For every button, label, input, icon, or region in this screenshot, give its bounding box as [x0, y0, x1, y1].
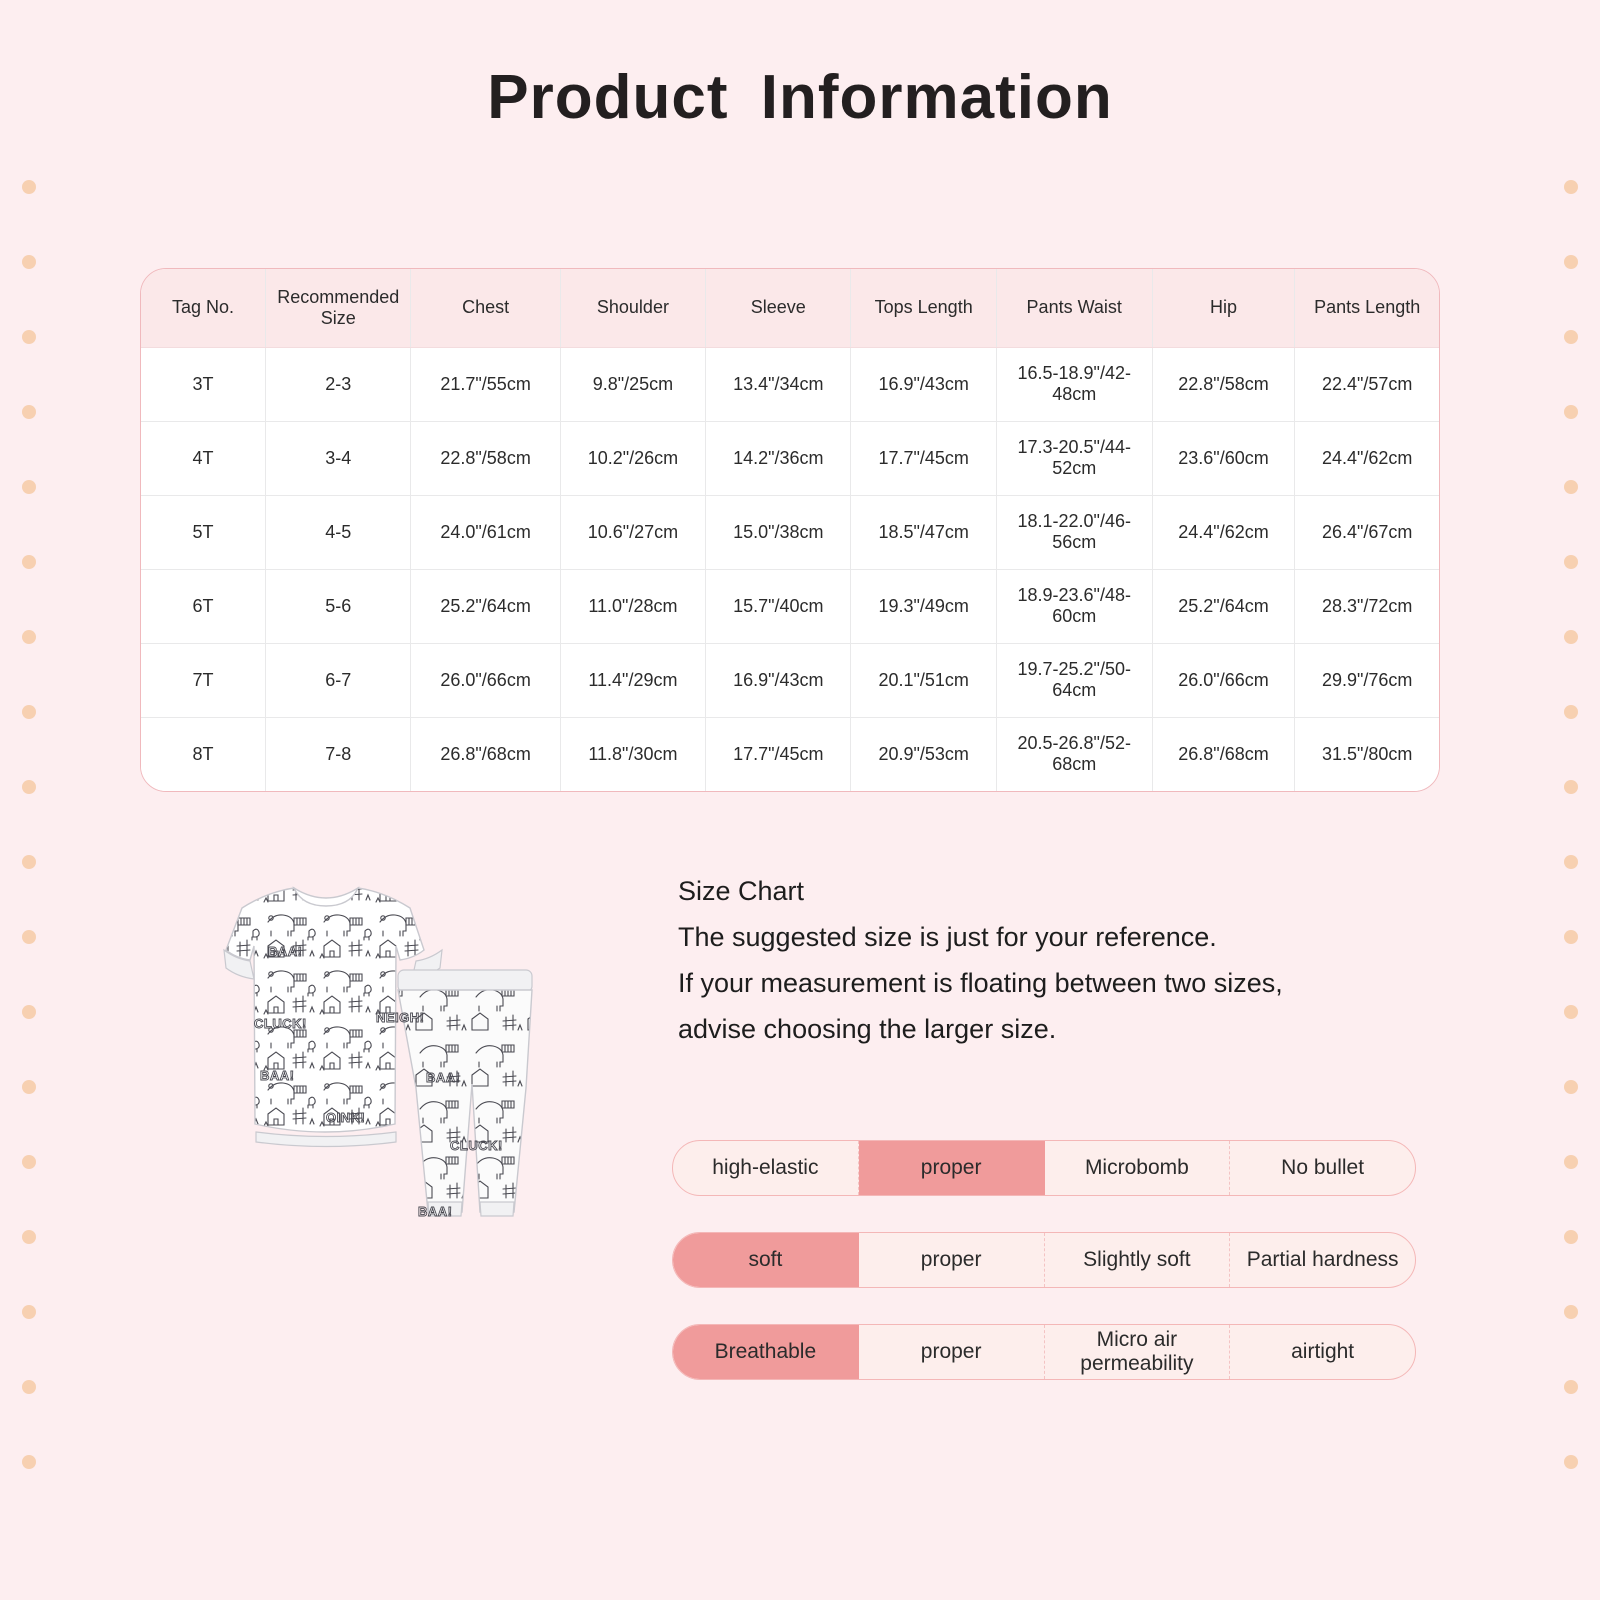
cell-chest: 24.0"/61cm [411, 495, 560, 569]
decorative-dot [22, 1305, 36, 1319]
print-word: BAA! [418, 1204, 453, 1219]
column-header-pants-length: Pants Length [1295, 269, 1439, 347]
cell-sleeve: 13.4"/34cm [706, 347, 851, 421]
decorative-dot [22, 480, 36, 494]
decorative-dot [1564, 555, 1578, 569]
cell-tag-no: 4T [141, 421, 266, 495]
property-bar-breathability: Breathable proper Micro air permeability… [672, 1324, 1416, 1380]
decorative-dot [22, 1155, 36, 1169]
table-row: 5T 4-5 24.0"/61cm 10.6"/27cm 15.0"/38cm … [141, 495, 1439, 569]
segment-slightly-soft[interactable]: Slightly soft [1045, 1233, 1231, 1287]
cell-shoulder: 11.0"/28cm [560, 569, 705, 643]
decorative-dot [1564, 630, 1578, 644]
cell-hip: 24.4"/62cm [1152, 495, 1295, 569]
cell-chest: 26.8"/68cm [411, 717, 560, 791]
cell-tops-length: 20.1"/51cm [851, 643, 996, 717]
segment-microbomb[interactable]: Microbomb [1045, 1141, 1231, 1195]
decorative-dot [22, 555, 36, 569]
decorative-dot-rail-right [1540, 0, 1600, 1600]
segment-partial-hardness[interactable]: Partial hardness [1230, 1233, 1415, 1287]
cell-hip: 22.8"/58cm [1152, 347, 1295, 421]
cell-shoulder: 11.4"/29cm [560, 643, 705, 717]
cell-pants-length: 31.5"/80cm [1295, 717, 1439, 791]
size-chart-table: Tag No. Recommended Size Chest Shoulder … [141, 269, 1439, 791]
cell-tag-no: 5T [141, 495, 266, 569]
column-header-tag-no: Tag No. [141, 269, 266, 347]
cell-shoulder: 10.6"/27cm [560, 495, 705, 569]
size-table-container: Tag No. Recommended Size Chest Shoulder … [140, 268, 1440, 792]
cell-pants-waist: 18.1-22.0"/46-56cm [996, 495, 1152, 569]
decorative-dot [22, 1230, 36, 1244]
cell-hip: 23.6"/60cm [1152, 421, 1295, 495]
print-word: CLUCK! [254, 1016, 307, 1031]
size-chart-line-1: The suggested size is just for your refe… [678, 914, 1438, 960]
cell-chest: 22.8"/58cm [411, 421, 560, 495]
property-bars: high-elastic proper Microbomb No bullet … [672, 1140, 1416, 1416]
decorative-dot [1564, 1230, 1578, 1244]
cell-pants-waist: 16.5-18.9"/42-48cm [996, 347, 1152, 421]
decorative-dot [22, 930, 36, 944]
size-chart-heading: Size Chart [678, 868, 1438, 914]
column-header-chest: Chest [411, 269, 560, 347]
cell-pants-length: 28.3"/72cm [1295, 569, 1439, 643]
decorative-dot [1564, 780, 1578, 794]
size-chart-note: Size Chart The suggested size is just fo… [678, 868, 1438, 1052]
cell-shoulder: 9.8"/25cm [560, 347, 705, 421]
cell-pants-length: 24.4"/62cm [1295, 421, 1439, 495]
segment-proper[interactable]: proper [859, 1141, 1045, 1195]
cell-tag-no: 6T [141, 569, 266, 643]
cell-sleeve: 17.7"/45cm [706, 717, 851, 791]
cell-tag-no: 7T [141, 643, 266, 717]
cell-chest: 25.2"/64cm [411, 569, 560, 643]
decorative-dot [1564, 180, 1578, 194]
column-header-recommended-size: Recommended Size [266, 269, 411, 347]
pajama-pants-shape [398, 970, 532, 1216]
cell-pants-length: 29.9"/76cm [1295, 643, 1439, 717]
decorative-dot [22, 1005, 36, 1019]
cell-chest: 26.0"/66cm [411, 643, 560, 717]
cell-sleeve: 16.9"/43cm [706, 643, 851, 717]
decorative-dot [1564, 1080, 1578, 1094]
cell-recommended-size: 4-5 [266, 495, 411, 569]
column-header-shoulder: Shoulder [560, 269, 705, 347]
segment-soft[interactable]: soft [673, 1233, 859, 1287]
decorative-dot [1564, 855, 1578, 869]
table-row: 8T 7-8 26.8"/68cm 11.8"/30cm 17.7"/45cm … [141, 717, 1439, 791]
decorative-dot [1564, 705, 1578, 719]
print-word: BAA! [426, 1070, 461, 1085]
property-bar-softness: soft proper Slightly soft Partial hardne… [672, 1232, 1416, 1288]
table-header-row: Tag No. Recommended Size Chest Shoulder … [141, 269, 1439, 347]
decorative-dot [22, 705, 36, 719]
page-title: Product Information [0, 0, 1600, 133]
cell-pants-waist: 20.5-26.8"/52-68cm [996, 717, 1152, 791]
property-bar-elasticity: high-elastic proper Microbomb No bullet [672, 1140, 1416, 1196]
cell-tops-length: 19.3"/49cm [851, 569, 996, 643]
decorative-dot [1564, 1005, 1578, 1019]
table-row: 6T 5-6 25.2"/64cm 11.0"/28cm 15.7"/40cm … [141, 569, 1439, 643]
decorative-dot [22, 405, 36, 419]
decorative-dot [22, 1380, 36, 1394]
segment-proper[interactable]: proper [859, 1325, 1045, 1379]
size-chart-line-3: advise choosing the larger size. [678, 1006, 1438, 1052]
decorative-dot [1564, 255, 1578, 269]
segment-breathable[interactable]: Breathable [673, 1325, 859, 1379]
decorative-dot [1564, 1155, 1578, 1169]
decorative-dot [1564, 480, 1578, 494]
decorative-dot [1564, 405, 1578, 419]
decorative-dot [22, 855, 36, 869]
cell-recommended-size: 6-7 [266, 643, 411, 717]
cell-tag-no: 3T [141, 347, 266, 421]
print-word: OINK! [326, 1110, 365, 1125]
table-row: 7T 6-7 26.0"/66cm 11.4"/29cm 16.9"/43cm … [141, 643, 1439, 717]
size-chart-line-2: If your measurement is floating between … [678, 960, 1438, 1006]
column-header-tops-length: Tops Length [851, 269, 996, 347]
cell-hip: 25.2"/64cm [1152, 569, 1295, 643]
cell-recommended-size: 7-8 [266, 717, 411, 791]
segment-micro-air-permeability[interactable]: Micro air permeability [1045, 1325, 1231, 1379]
cell-recommended-size: 5-6 [266, 569, 411, 643]
decorative-dot [22, 780, 36, 794]
print-word: NEIGH! [376, 1010, 425, 1025]
decorative-dot [1564, 1455, 1578, 1469]
segment-high-elastic[interactable]: high-elastic [673, 1141, 859, 1195]
decorative-dot [22, 1455, 36, 1469]
cell-tag-no: 8T [141, 717, 266, 791]
cell-pants-length: 26.4"/67cm [1295, 495, 1439, 569]
column-header-sleeve: Sleeve [706, 269, 851, 347]
decorative-dot [22, 180, 36, 194]
product-image-pajama-set: BAA! CLUCK! BAA! OINK! NEIGH! BAA! CLUCK… [150, 850, 590, 1390]
column-header-pants-waist: Pants Waist [996, 269, 1152, 347]
print-word: BAA! [268, 944, 303, 959]
cell-sleeve: 15.0"/38cm [706, 495, 851, 569]
print-word: BAA! [260, 1068, 295, 1083]
cell-tops-length: 17.7"/45cm [851, 421, 996, 495]
decorative-dot [1564, 330, 1578, 344]
decorative-dot [22, 255, 36, 269]
decorative-dot [1564, 1380, 1578, 1394]
cell-hip: 26.0"/66cm [1152, 643, 1295, 717]
cell-pants-waist: 17.3-20.5"/44-52cm [996, 421, 1152, 495]
segment-proper[interactable]: proper [859, 1233, 1045, 1287]
decorative-dot [1564, 930, 1578, 944]
decorative-dot [1564, 1305, 1578, 1319]
cell-hip: 26.8"/68cm [1152, 717, 1295, 791]
cell-shoulder: 11.8"/30cm [560, 717, 705, 791]
cell-shoulder: 10.2"/26cm [560, 421, 705, 495]
cell-tops-length: 16.9"/43cm [851, 347, 996, 421]
cell-chest: 21.7"/55cm [411, 347, 560, 421]
cell-sleeve: 15.7"/40cm [706, 569, 851, 643]
cell-pants-waist: 18.9-23.6"/48-60cm [996, 569, 1152, 643]
column-header-hip: Hip [1152, 269, 1295, 347]
decorative-dot [22, 630, 36, 644]
cell-sleeve: 14.2"/36cm [706, 421, 851, 495]
table-row: 4T 3-4 22.8"/58cm 10.2"/26cm 14.2"/36cm … [141, 421, 1439, 495]
segment-airtight[interactable]: airtight [1230, 1325, 1415, 1379]
decorative-dot [22, 1080, 36, 1094]
table-row: 3T 2-3 21.7"/55cm 9.8"/25cm 13.4"/34cm 1… [141, 347, 1439, 421]
cell-tops-length: 20.9"/53cm [851, 717, 996, 791]
decorative-dot-rail-left [0, 0, 60, 1600]
cell-pants-length: 22.4"/57cm [1295, 347, 1439, 421]
segment-no-bullet[interactable]: No bullet [1230, 1141, 1415, 1195]
cell-tops-length: 18.5"/47cm [851, 495, 996, 569]
cell-recommended-size: 3-4 [266, 421, 411, 495]
print-word: CLUCK! [450, 1138, 503, 1153]
decorative-dot [22, 330, 36, 344]
cell-pants-waist: 19.7-25.2"/50-64cm [996, 643, 1152, 717]
cell-recommended-size: 2-3 [266, 347, 411, 421]
